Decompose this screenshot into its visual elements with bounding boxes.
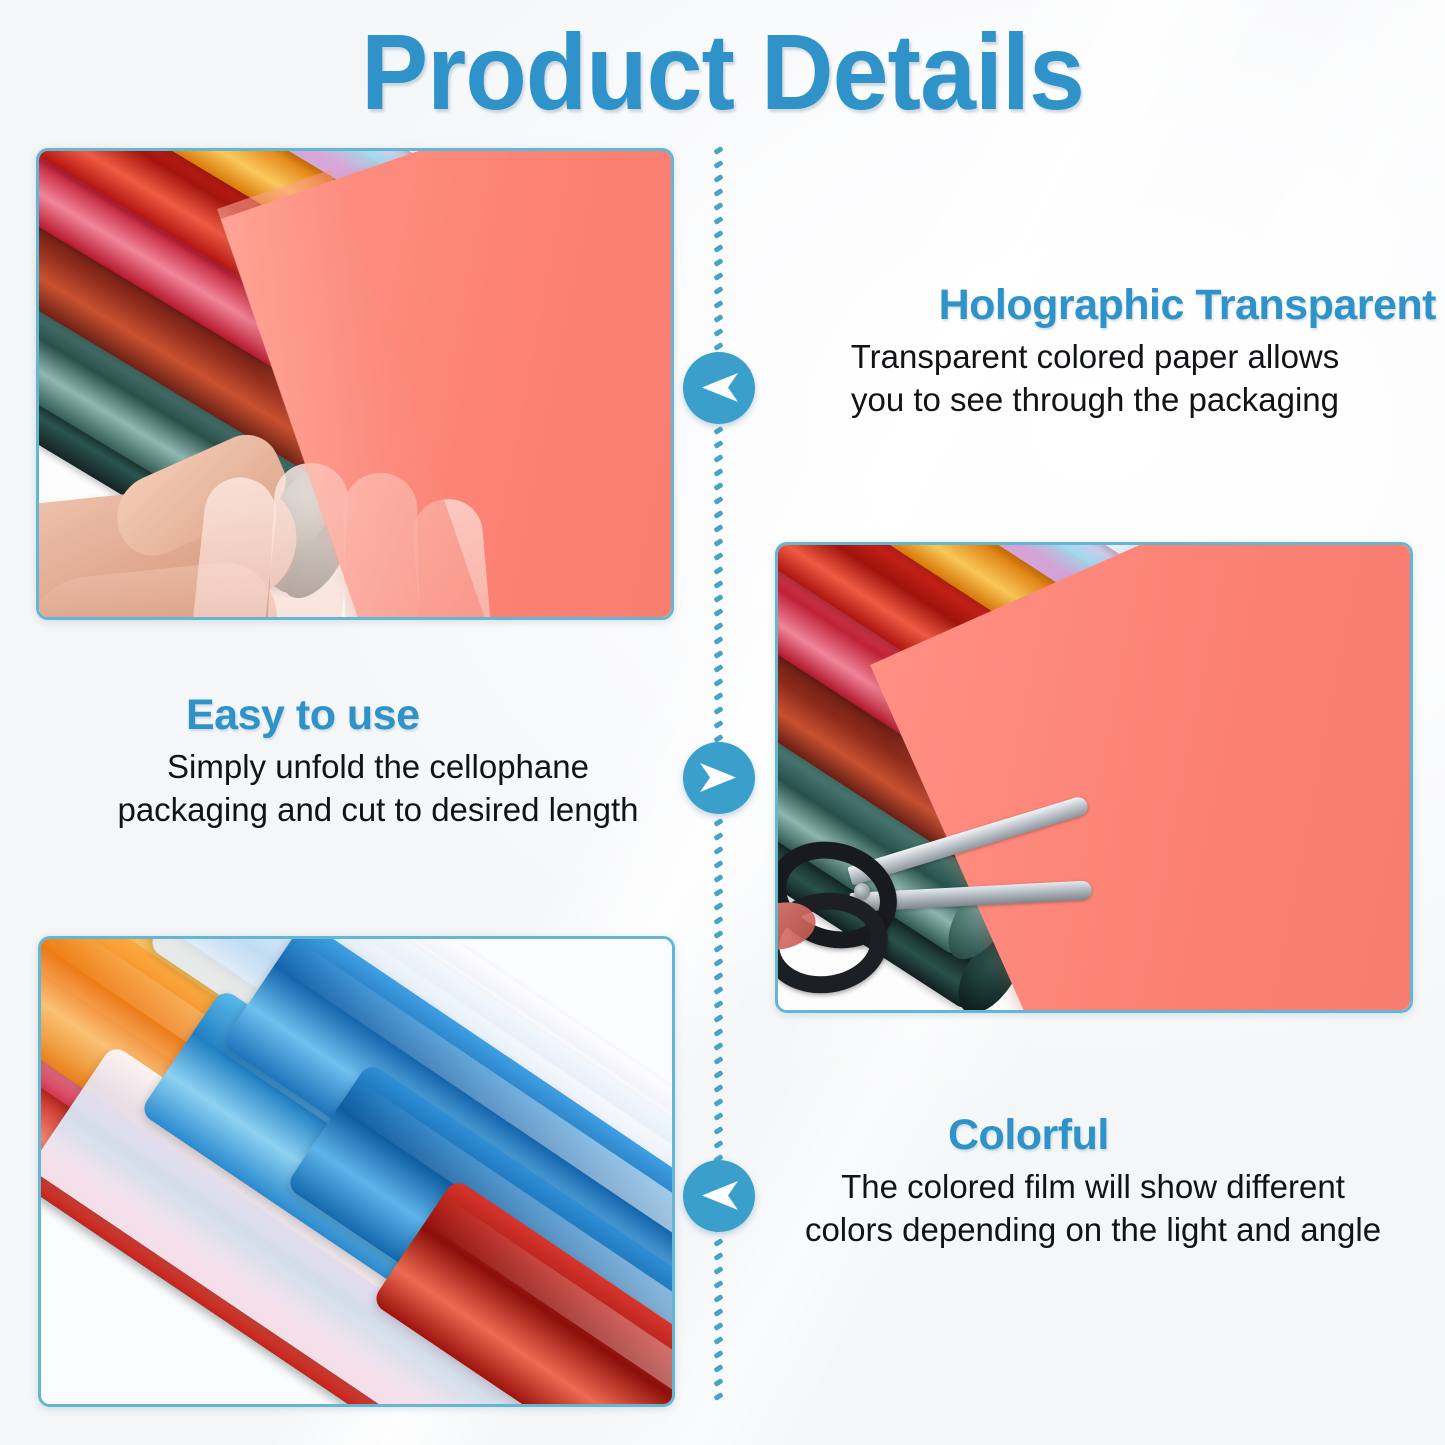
divider-dash	[713, 888, 723, 897]
divider-dash	[713, 1238, 723, 1247]
photo-panel-rolls	[38, 936, 675, 1407]
photo-panel-transparency	[36, 148, 674, 620]
divider-dash	[713, 832, 723, 841]
divider-dash	[713, 1294, 723, 1303]
divider-dash	[713, 524, 723, 533]
divider-dash	[713, 664, 723, 673]
divider-dash	[713, 244, 723, 253]
divider-dash	[713, 1336, 723, 1345]
divider-dash	[713, 692, 723, 701]
divider-dash	[713, 636, 723, 645]
divider-dash	[713, 860, 723, 869]
divider-dash	[713, 1392, 723, 1401]
divider-dash	[713, 1280, 723, 1289]
feature-heading: Holographic Transparent	[750, 282, 1440, 328]
arrow-left-icon[interactable]	[683, 352, 755, 424]
scissors-icon	[778, 831, 1158, 1010]
divider-dash	[713, 496, 723, 505]
feature-block-easy-to-use: Easy to use Simply unfold the cellophane…	[58, 692, 698, 832]
divider-dash	[713, 230, 723, 239]
divider-dash	[713, 916, 723, 925]
photo-rolls-image	[41, 939, 672, 1404]
feature-body-line-2: colors depending on the light and angle	[748, 1209, 1438, 1252]
divider-dash	[713, 1350, 723, 1359]
divider-dash	[713, 1014, 723, 1023]
divider-dash	[713, 482, 723, 491]
page-title: Product Details	[51, 18, 1395, 126]
divider-dash	[713, 930, 723, 939]
divider-dash	[713, 846, 723, 855]
divider-dash	[713, 1000, 723, 1009]
feature-heading: Colorful	[748, 1112, 1438, 1158]
divider-dash	[713, 678, 723, 687]
divider-dash	[713, 874, 723, 883]
divider-dash	[713, 538, 723, 547]
divider-dash	[713, 174, 723, 183]
photo-cutting-image	[778, 545, 1410, 1010]
divider-dash	[713, 1140, 723, 1149]
divider-dash	[713, 160, 723, 169]
photo-panel-cutting	[775, 542, 1413, 1013]
arrow-left-icon[interactable]	[683, 1160, 755, 1232]
divider-dash	[713, 272, 723, 281]
divider-dash	[713, 1126, 723, 1135]
divider-dash	[713, 510, 723, 519]
divider-dash	[713, 258, 723, 267]
divider-dash	[713, 202, 723, 211]
divider-dash	[713, 818, 723, 827]
divider-dash	[713, 608, 723, 617]
feature-body: Simply unfold the cellophane packaging a…	[58, 746, 698, 832]
divider-dash	[713, 944, 723, 953]
divider-dash	[713, 188, 723, 197]
divider-dash	[713, 622, 723, 631]
divider-dash	[713, 426, 723, 435]
divider-dash	[713, 300, 723, 309]
divider-dash	[713, 1378, 723, 1387]
divider-dash	[713, 1322, 723, 1331]
divider-dash	[713, 314, 723, 323]
infographic-canvas: Product Details	[0, 0, 1445, 1445]
feature-body-line-2: you to see through the packaging	[750, 379, 1440, 422]
feature-body-line-2: packaging and cut to desired length	[58, 789, 698, 832]
divider-dash	[713, 1042, 723, 1051]
photo-transparency-image	[39, 151, 671, 617]
feature-body-line-1: The colored film will show different	[748, 1166, 1438, 1209]
feature-body-line-1: Transparent colored paper allows	[750, 336, 1440, 379]
divider-dash	[713, 720, 723, 729]
divider-dash	[713, 1308, 723, 1317]
feature-block-colorful: Colorful The colored film will show diff…	[748, 1112, 1438, 1252]
divider-dash	[713, 972, 723, 981]
divider-dash	[713, 342, 723, 351]
divider-dash	[713, 1112, 723, 1121]
divider-dash	[713, 986, 723, 995]
divider-dash	[713, 146, 723, 155]
feature-block-holographic-transparent: Holographic Transparent Transparent colo…	[750, 282, 1440, 422]
divider-dash	[713, 328, 723, 337]
divider-dash	[713, 650, 723, 659]
divider-dash	[713, 1056, 723, 1065]
divider-dash	[713, 286, 723, 295]
divider-dash	[713, 468, 723, 477]
divider-dash	[713, 566, 723, 575]
divider-dash	[713, 1364, 723, 1373]
divider-dash	[713, 1084, 723, 1093]
divider-dash	[713, 580, 723, 589]
divider-dash	[713, 1266, 723, 1275]
feature-body: The colored film will show different col…	[748, 1166, 1438, 1252]
divider-dash	[713, 1098, 723, 1107]
feature-body: Transparent colored paper allows you to …	[750, 336, 1440, 422]
divider-dash	[713, 1070, 723, 1079]
feature-heading: Easy to use	[58, 692, 698, 738]
divider-dash	[713, 552, 723, 561]
divider-dash	[713, 706, 723, 715]
divider-dash	[713, 454, 723, 463]
divider-dash	[713, 594, 723, 603]
divider-dash	[713, 440, 723, 449]
divider-dash	[713, 216, 723, 225]
divider-dash	[713, 1252, 723, 1261]
divider-dash	[713, 902, 723, 911]
divider-dash	[713, 958, 723, 967]
divider-dash	[713, 1028, 723, 1037]
feature-body-line-1: Simply unfold the cellophane	[58, 746, 698, 789]
